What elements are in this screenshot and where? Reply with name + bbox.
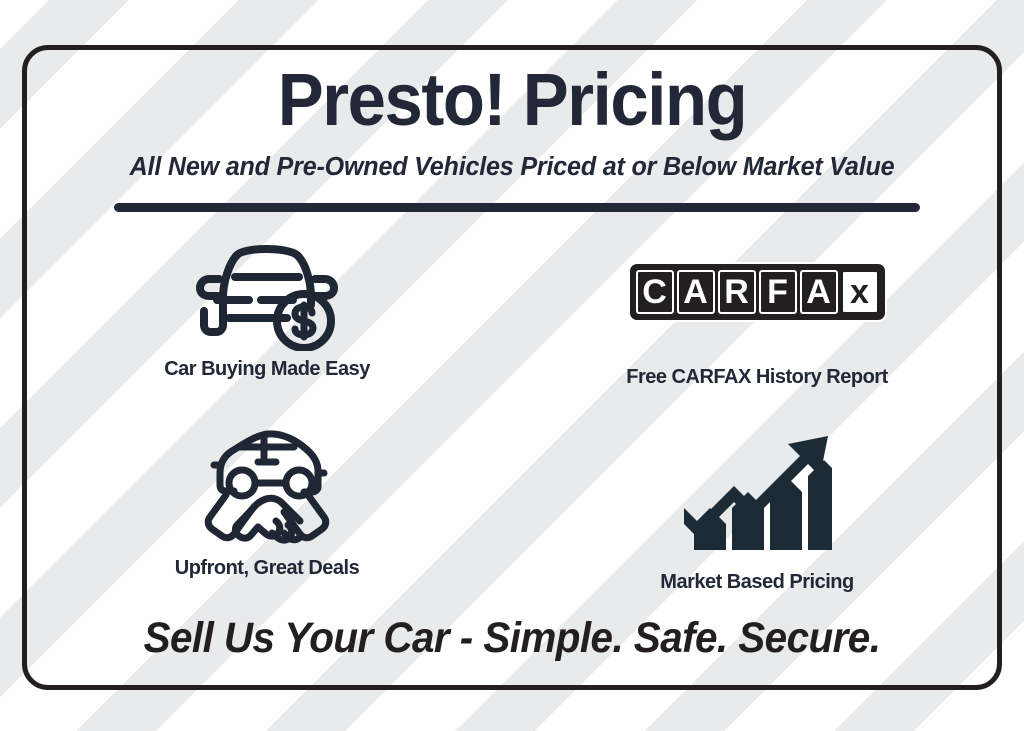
feature-grid: Car Buying Made Easy C A R F A x Free CA…: [22, 228, 1002, 598]
feature-label: Market Based Pricing: [660, 571, 853, 594]
presto-pricing-banner: Presto! Pricing All New and Pre-Owned Ve…: [0, 0, 1024, 731]
carfax-letter-x: x: [841, 270, 879, 314]
carfax-letter-c: C: [636, 270, 674, 314]
rising-bar-chart-icon: [682, 427, 832, 555]
banner-header: Presto! Pricing All New and Pre-Owned Ve…: [22, 60, 1002, 182]
carfax-letter-a1: A: [677, 270, 715, 314]
car-with-dollar-coin-icon: [191, 232, 343, 352]
page-subtitle: All New and Pre-Owned Vehicles Priced at…: [29, 152, 994, 182]
banner-tagline: Sell Us Your Car - Simple. Safe. Secure.: [51, 612, 972, 664]
feature-free-carfax-history-report: C A R F A x Free CARFAX History Report: [512, 228, 1002, 413]
page-title: Presto! Pricing: [56, 60, 967, 140]
feature-market-based-pricing: Market Based Pricing: [512, 413, 1002, 598]
carfax-wordmark: C A R F A x: [630, 264, 885, 320]
feature-label: Free CARFAX History Report: [626, 366, 888, 389]
header-divider: [114, 203, 920, 212]
carfax-letter-r: R: [718, 270, 756, 314]
feature-upfront-great-deals: Upfront, Great Deals: [22, 413, 512, 598]
feature-label: Car Buying Made Easy: [164, 358, 370, 381]
carfax-letter-a2: A: [800, 270, 838, 314]
carfax-letter-f: F: [759, 270, 797, 314]
feature-label: Upfront, Great Deals: [175, 557, 359, 580]
feature-car-buying-made-easy: Car Buying Made Easy: [22, 228, 512, 413]
car-handshake-icon: [196, 423, 338, 551]
carfax-logo-icon: C A R F A x: [630, 232, 885, 352]
